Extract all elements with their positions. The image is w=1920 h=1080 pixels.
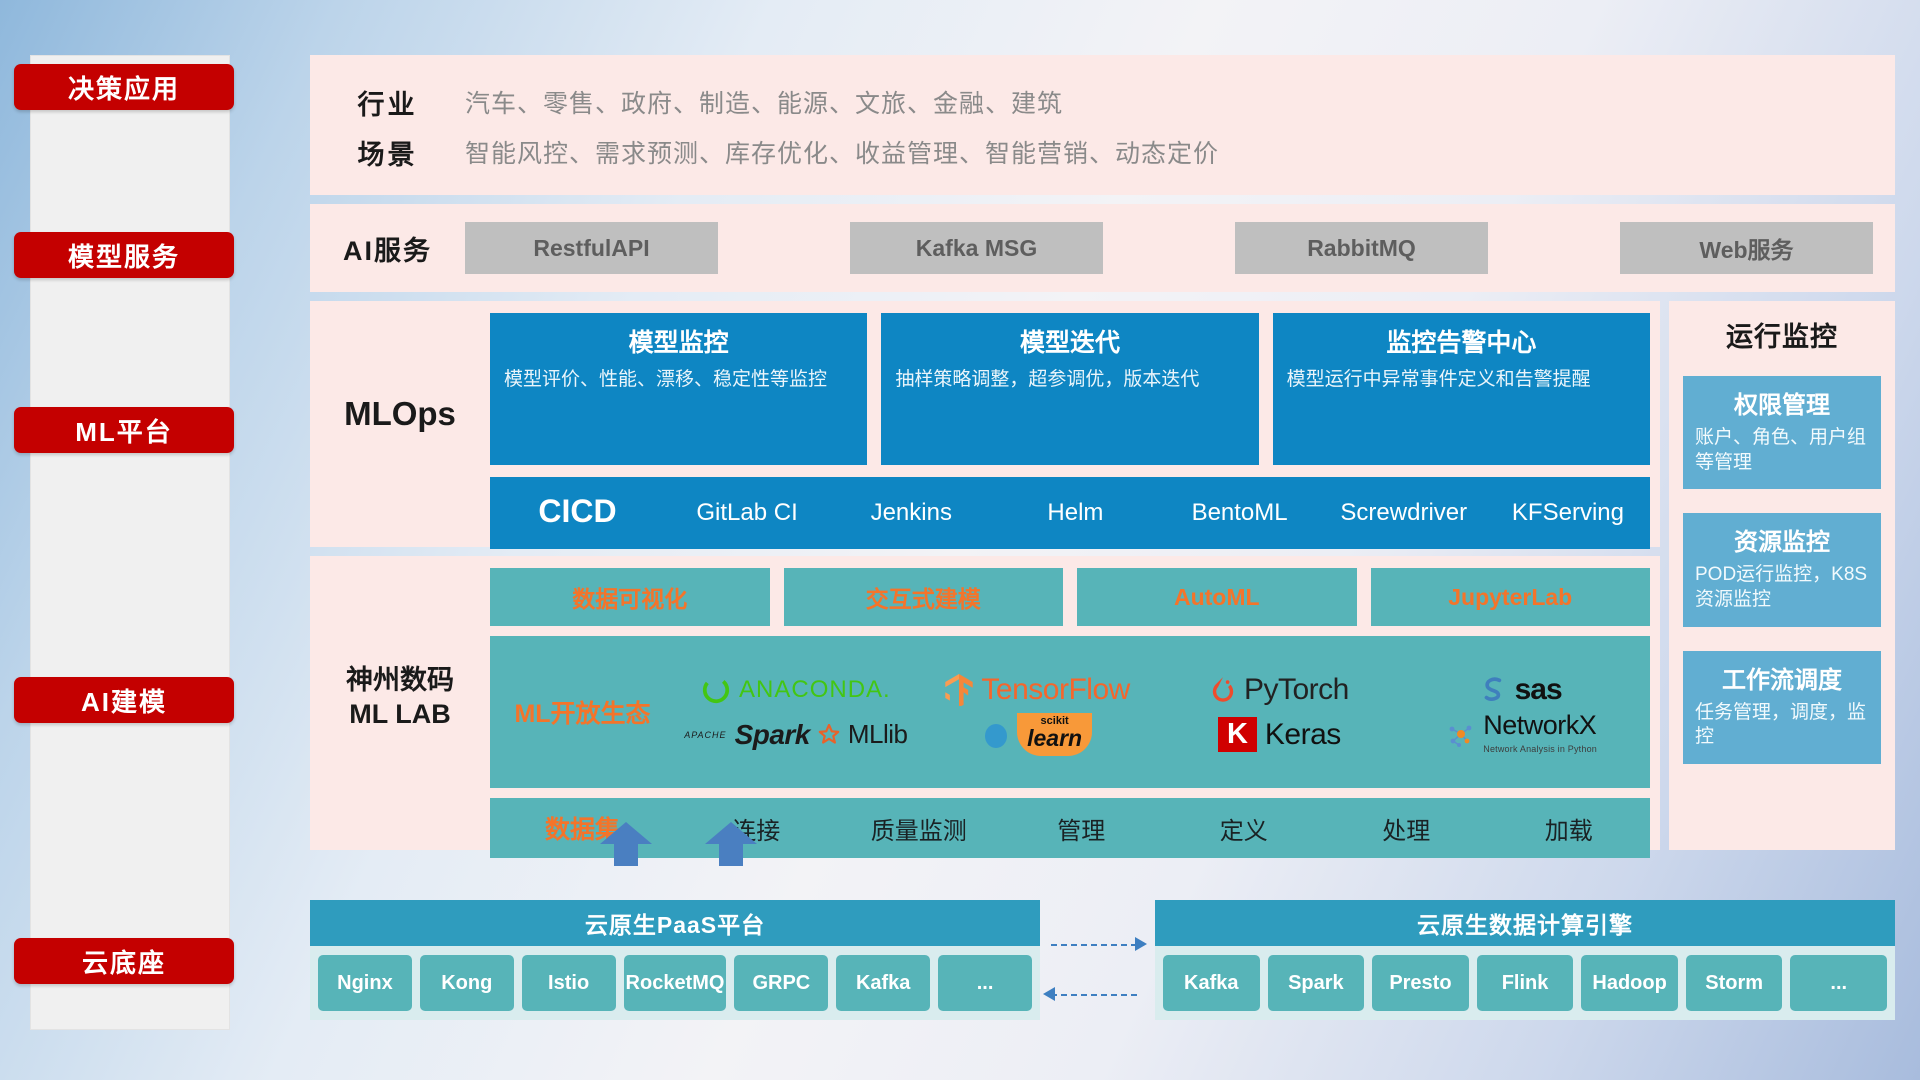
industry-row: 行业 汽车、零售、政府、制造、能源、文旅、金融、建筑 (310, 77, 1895, 127)
platform-and-monitor-region: MLOps 模型监控 模型评价、性能、漂移、稳定性等监控 模型迭代 抽样策略调整… (310, 301, 1895, 859)
spark-label: Spark (735, 719, 810, 751)
mlops-card-model-iteration[interactable]: 模型迭代 抽样策略调整，超参调优，版本迭代 (881, 313, 1258, 465)
data-chip-kafka[interactable]: Kafka (1163, 955, 1260, 1011)
platform-column: MLOps 模型监控 模型评价、性能、漂移、稳定性等监控 模型迭代 抽样策略调整… (310, 301, 1660, 859)
rail-label-model-service[interactable]: 模型服务 (14, 232, 234, 278)
rail-label-ml-platform[interactable]: ML平台 (14, 407, 234, 453)
mlops-card-alert-center[interactable]: 监控告警中心 模型运行中异常事件定义和告警提醒 (1273, 313, 1650, 465)
monitor-card-permission[interactable]: 权限管理 账户、角色、用户组等管理 (1683, 376, 1881, 489)
sas-icon (1481, 676, 1507, 704)
tensorflow-label: TensorFlow (981, 673, 1129, 707)
modeling-tool-list: 数据可视化 交互式建模 AutoML JupyterLab (490, 568, 1650, 626)
ml-lab-label-line2: ML LAB (310, 698, 490, 732)
networkx-label: NetworkX (1483, 712, 1597, 739)
keras-k-icon: K (1218, 717, 1257, 752)
cloud-base-region: 云原生PaaS平台 Nginx Kong Istio RocketMQ GRPC… (310, 860, 1895, 1035)
dataset-item-management[interactable]: 管理 (1000, 811, 1163, 846)
networkx-icon (1445, 720, 1475, 750)
dataset-row: 数据集 连接 质量监测 管理 定义 处理 加载 (490, 798, 1650, 858)
data-engine-chip-list: Kafka Spark Presto Flink Hadoop Storm ..… (1155, 946, 1895, 1020)
paas-title: 云原生PaaS平台 (310, 900, 1040, 946)
cicd-item-screwdriver[interactable]: Screwdriver (1322, 477, 1486, 527)
scenario-values: 智能风控、需求预测、库存优化、收益管理、智能营销、动态定价 (465, 134, 1219, 170)
learn-label: learn (1027, 727, 1082, 750)
cloud-native-data-engine-group: 云原生数据计算引擎 Kafka Spark Presto Flink Hadoo… (1155, 900, 1895, 1020)
ml-ecosystem-label: ML开放生态 (490, 694, 675, 730)
paas-chip-list: Nginx Kong Istio RocketMQ GRPC Kafka ... (310, 946, 1040, 1020)
card-title: 模型监控 (504, 323, 853, 359)
networkx-logo: NetworkX Network Analysis in Python (1445, 712, 1597, 757)
cicd-item-bentoml[interactable]: BentoML (1158, 477, 1322, 527)
pytorch-label: PyTorch (1244, 673, 1349, 707)
cicd-item-jenkins[interactable]: Jenkins (829, 477, 993, 527)
scenario-label: 场景 (310, 133, 465, 172)
anaconda-icon (701, 675, 731, 705)
paas-chip-rocketmq[interactable]: RocketMQ (624, 955, 727, 1011)
ml-open-ecosystem-row: ML开放生态 ANACONDA. TensorFlow (490, 636, 1650, 788)
dataset-item-loading[interactable]: 加载 (1488, 811, 1651, 846)
dataset-item-quality-monitoring[interactable]: 质量监测 (838, 811, 1001, 846)
data-chip-flink[interactable]: Flink (1477, 955, 1574, 1011)
paas-chip-kong[interactable]: Kong (420, 955, 514, 1011)
ai-service-label: AI服务 (310, 229, 465, 268)
anaconda-logo: ANACONDA. (701, 675, 891, 705)
cloud-native-paas-group: 云原生PaaS平台 Nginx Kong Istio RocketMQ GRPC… (310, 900, 1040, 1020)
tensorflow-logo: TensorFlow (945, 673, 1129, 707)
networkx-tagline: Network Analysis in Python (1483, 744, 1597, 754)
ml-platform-band: MLOps 模型监控 模型评价、性能、漂移、稳定性等监控 模型迭代 抽样策略调整… (310, 301, 1660, 547)
scikit-learn-logo: scikit learn (983, 713, 1092, 756)
paas-chip-istio[interactable]: Istio (522, 955, 616, 1011)
data-chip-hadoop[interactable]: Hadoop (1581, 955, 1678, 1011)
runtime-monitor-title: 运行监控 (1683, 315, 1881, 354)
data-chip-spark[interactable]: Spark (1268, 955, 1365, 1011)
dashed-line-rightward (1051, 944, 1137, 946)
card-title: 模型迭代 (895, 323, 1244, 359)
rail-label-cloud-base[interactable]: 云底座 (14, 938, 234, 984)
paas-chip-more[interactable]: ... (938, 955, 1032, 1011)
data-chip-more[interactable]: ... (1790, 955, 1887, 1011)
ml-lab-label: 神州数码 ML LAB (310, 568, 490, 732)
model-service-band: AI服务 RestfulAPI Kafka MSG RabbitMQ Web服务 (310, 204, 1895, 292)
runtime-monitor-band: 运行监控 权限管理 账户、角色、用户组等管理 资源监控 POD运行监控，K8S资… (1669, 301, 1895, 850)
cicd-item-kfserving[interactable]: KFServing (1486, 477, 1650, 527)
tensorflow-icon (945, 674, 973, 706)
card-title: 工作流调度 (1695, 660, 1869, 695)
service-chip-rabbitmq[interactable]: RabbitMQ (1235, 222, 1488, 274)
ai-modeling-band: 神州数码 ML LAB 数据可视化 交互式建模 AutoML JupyterLa… (310, 556, 1660, 850)
framework-logo-grid: ANACONDA. TensorFlow PyTorch (675, 667, 1650, 757)
pytorch-icon (1210, 675, 1236, 705)
card-title: 权限管理 (1695, 385, 1869, 420)
paas-chip-nginx[interactable]: Nginx (318, 955, 412, 1011)
spark-mllib-logo: APACHE Spark MLlib (684, 719, 907, 751)
sas-logo: sas (1481, 673, 1562, 707)
card-desc: 抽样策略调整，超参调优，版本迭代 (895, 367, 1244, 392)
tool-chip-interactive-modeling[interactable]: 交互式建模 (784, 568, 1064, 626)
sas-label: sas (1515, 673, 1562, 707)
scikit-blue-blob-icon (983, 720, 1009, 750)
industry-values: 汽车、零售、政府、制造、能源、文旅、金融、建筑 (465, 84, 1063, 120)
ai-service-chip-list: RestfulAPI Kafka MSG RabbitMQ Web服务 (465, 222, 1895, 274)
architecture-main: 行业 汽车、零售、政府、制造、能源、文旅、金融、建筑 场景 智能风控、需求预测、… (310, 55, 1895, 859)
monitor-card-resource[interactable]: 资源监控 POD运行监控，K8S资源监控 (1683, 513, 1881, 626)
industry-label: 行业 (310, 83, 465, 122)
rail-label-ai-modeling[interactable]: AI建模 (14, 677, 234, 723)
paas-chip-grpc[interactable]: GRPC (734, 955, 828, 1011)
decision-application-band: 行业 汽车、零售、政府、制造、能源、文旅、金融、建筑 场景 智能风控、需求预测、… (310, 55, 1895, 195)
card-desc: POD运行监控，K8S资源监控 (1695, 563, 1869, 612)
mlops-body: 模型监控 模型评价、性能、漂移、稳定性等监控 模型迭代 抽样策略调整，超参调优，… (490, 313, 1660, 549)
bidirectional-link-arrows (1043, 936, 1153, 1012)
mlops-card-list: 模型监控 模型评价、性能、漂移、稳定性等监控 模型迭代 抽样策略调整，超参调优，… (490, 313, 1650, 465)
card-desc: 任务管理，调度，监控 (1695, 701, 1869, 750)
anaconda-label: ANACONDA. (739, 676, 891, 704)
data-engine-title: 云原生数据计算引擎 (1155, 900, 1895, 946)
paas-chip-kafka[interactable]: Kafka (836, 955, 930, 1011)
scenario-row: 场景 智能风控、需求预测、库存优化、收益管理、智能营销、动态定价 (310, 127, 1895, 177)
monitor-card-workflow[interactable]: 工作流调度 任务管理，调度，监控 (1683, 651, 1881, 764)
arrowhead-left-icon (1043, 987, 1055, 1001)
cicd-label: CICD (490, 477, 665, 530)
cicd-item-helm[interactable]: Helm (993, 477, 1157, 527)
arrowhead-right-icon (1135, 937, 1147, 951)
data-engine-up-arrow-icon (705, 822, 757, 866)
apache-label: APACHE (684, 730, 726, 740)
tool-chip-jupyterlab[interactable]: JupyterLab (1371, 568, 1651, 626)
ml-lab-label-line1: 神州数码 (310, 664, 490, 698)
layer-rail (30, 55, 230, 1030)
networkx-text-block: NetworkX Network Analysis in Python (1483, 712, 1597, 757)
data-chip-presto[interactable]: Presto (1372, 955, 1469, 1011)
pytorch-logo: PyTorch (1210, 673, 1349, 707)
keras-label: Keras (1265, 718, 1341, 752)
ai-modeling-body: 数据可视化 交互式建模 AutoML JupyterLab ML开放生态 ANA… (490, 568, 1660, 858)
tool-chip-automl[interactable]: AutoML (1077, 568, 1357, 626)
cicd-bar: CICD GitLab CI Jenkins Helm BentoML Scre… (490, 477, 1650, 549)
rail-label-decision-app[interactable]: 决策应用 (14, 64, 234, 110)
dataset-item-processing[interactable]: 处理 (1325, 811, 1488, 846)
mlops-card-model-monitoring[interactable]: 模型监控 模型评价、性能、漂移、稳定性等监控 (490, 313, 867, 465)
dataset-item-definition[interactable]: 定义 (1163, 811, 1326, 846)
mlops-label: MLOps (310, 313, 490, 433)
paas-up-arrow-icon (600, 822, 652, 866)
card-desc: 模型评价、性能、漂移、稳定性等监控 (504, 367, 853, 392)
monitor-column: 运行监控 权限管理 账户、角色、用户组等管理 资源监控 POD运行监控，K8S资… (1669, 301, 1895, 859)
card-title: 资源监控 (1695, 522, 1869, 557)
keras-logo: K Keras (1218, 717, 1341, 752)
scikit-learn-badge: scikit learn (1017, 713, 1092, 756)
tool-chip-data-visualization[interactable]: 数据可视化 (490, 568, 770, 626)
card-title: 监控告警中心 (1287, 323, 1636, 359)
service-chip-web-service[interactable]: Web服务 (1620, 222, 1873, 274)
cicd-item-gitlab-ci[interactable]: GitLab CI (665, 477, 829, 527)
mllib-label: MLlib (848, 719, 908, 750)
service-chip-kafka-msg[interactable]: Kafka MSG (850, 222, 1103, 274)
card-desc: 账户、角色、用户组等管理 (1695, 426, 1869, 475)
data-chip-storm[interactable]: Storm (1686, 955, 1783, 1011)
dashed-line-leftward (1051, 994, 1137, 996)
service-chip-restfulapi[interactable]: RestfulAPI (465, 222, 718, 274)
card-desc: 模型运行中异常事件定义和告警提醒 (1287, 367, 1636, 392)
spark-star-icon (818, 724, 840, 746)
